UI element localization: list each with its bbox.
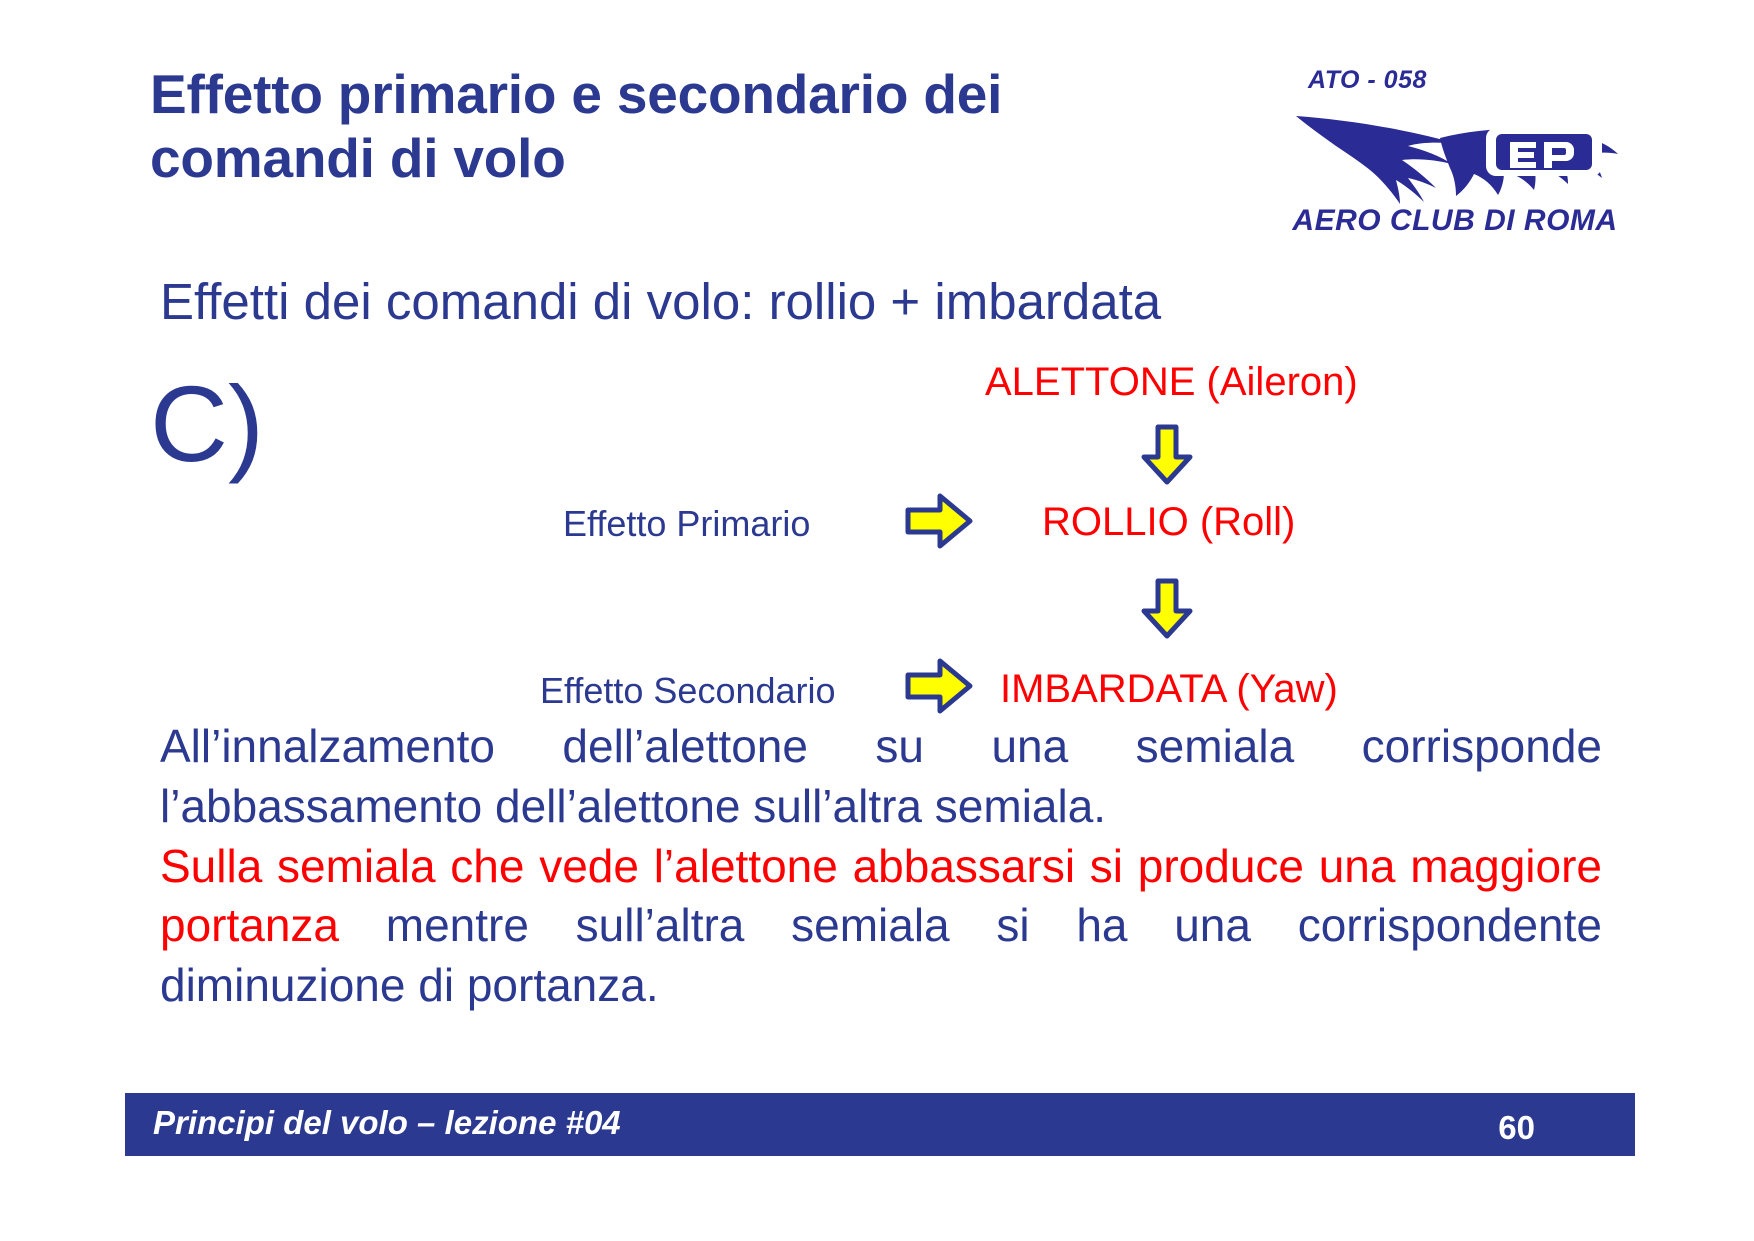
paragraph-one-line-one: All’innalzamento dell’alettone su una se… xyxy=(160,720,1602,772)
diagram-primary-label: Effetto Primario xyxy=(563,503,810,545)
arrow-down-icon-2 xyxy=(1136,578,1198,640)
logo-club-name: AERO CLUB DI ROMA xyxy=(1290,204,1620,238)
diagram-control-label: ALETTONE (Aileron) xyxy=(985,360,1358,405)
footer-course-label: Principi del volo – lezione #04 xyxy=(153,1104,621,1142)
arrow-down-icon xyxy=(1136,424,1198,486)
logo-ato-code: ATO - 058 xyxy=(1308,66,1427,95)
paragraph-one-line-two: l’abbassamento dell’alettone sull’altra … xyxy=(160,780,1106,832)
page-title: Effetto primario e secondario dei comand… xyxy=(150,62,1160,191)
slide-subtitle: Effetti dei comandi di volo: rollio + im… xyxy=(160,272,1161,331)
footer-page-number: 60 xyxy=(1498,1109,1535,1147)
diagram-secondary-result: IMBARDATA (Yaw) xyxy=(1000,667,1338,712)
paragraph-one: All’innalzamento dell’alettone su una se… xyxy=(160,717,1602,837)
diagram-primary-result: ROLLIO (Roll) xyxy=(1042,500,1295,545)
arrow-right-icon-2 xyxy=(904,655,976,717)
arrow-right-icon xyxy=(904,490,976,552)
slide-footer: Principi del volo – lezione #04 60 xyxy=(125,1093,1635,1156)
paragraph-two-rest: mentre sull’altra semiala si ha una corr… xyxy=(160,899,1602,1011)
aero-club-logo: ATO - 058 AERO CLUB DI ROMA xyxy=(1290,66,1620,251)
section-letter: C) xyxy=(150,370,264,478)
paragraph-two: Sulla semiala che vede l’alettone abbass… xyxy=(160,837,1602,1016)
eagle-icon xyxy=(1290,98,1620,208)
slide-canvas: Effetto primario e secondario dei comand… xyxy=(0,0,1754,1241)
diagram-secondary-label: Effetto Secondario xyxy=(540,670,836,712)
body-copy: All’innalzamento dell’alettone su una se… xyxy=(160,717,1602,1016)
